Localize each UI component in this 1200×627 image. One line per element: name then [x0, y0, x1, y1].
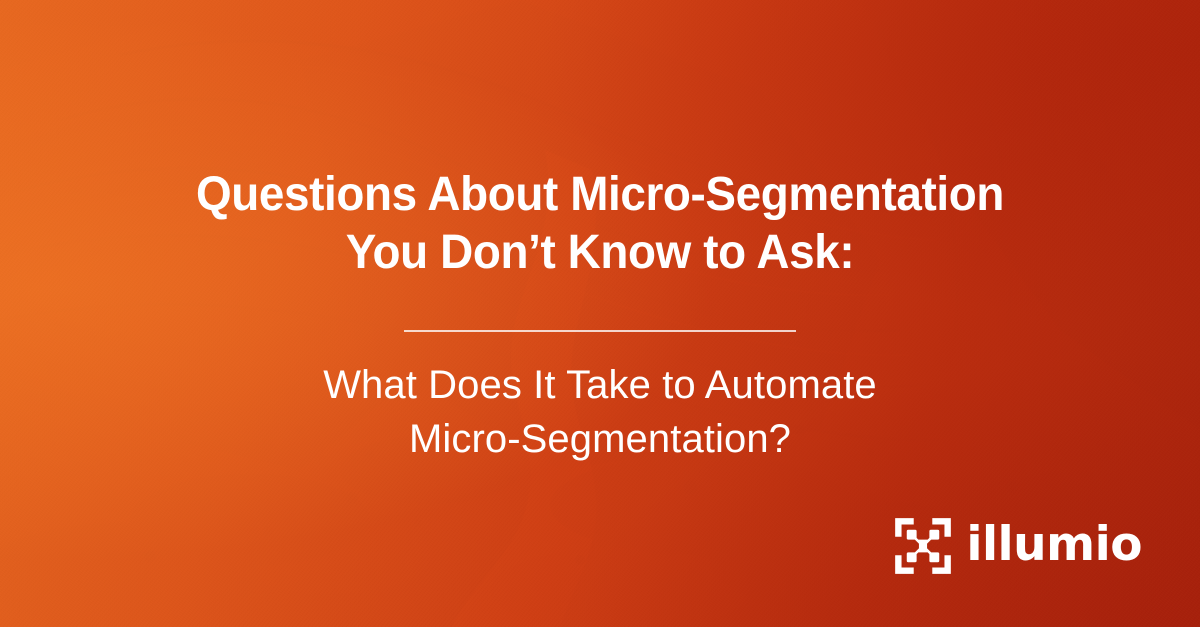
promo-banner: Questions About Micro-Segmentation You D…	[0, 0, 1200, 627]
subheadline-line-2: Micro-Segmentation?	[0, 412, 1200, 466]
divider-rule	[404, 330, 796, 332]
subheadline-line-1: What Does It Take to Automate	[0, 358, 1200, 412]
banner-content: Questions About Micro-Segmentation You D…	[0, 0, 1200, 627]
illumio-logo: illumio	[894, 517, 1142, 575]
subheadline: What Does It Take to Automate Micro-Segm…	[0, 358, 1200, 466]
headline-line-1: Questions About Micro-Segmentation	[27, 166, 1173, 224]
headline-line-2: You Don’t Know to Ask:	[27, 224, 1173, 282]
headline: Questions About Micro-Segmentation You D…	[27, 166, 1173, 282]
illumio-bracket-node-icon	[894, 517, 952, 575]
illumio-wordmark: illumio	[966, 521, 1142, 571]
